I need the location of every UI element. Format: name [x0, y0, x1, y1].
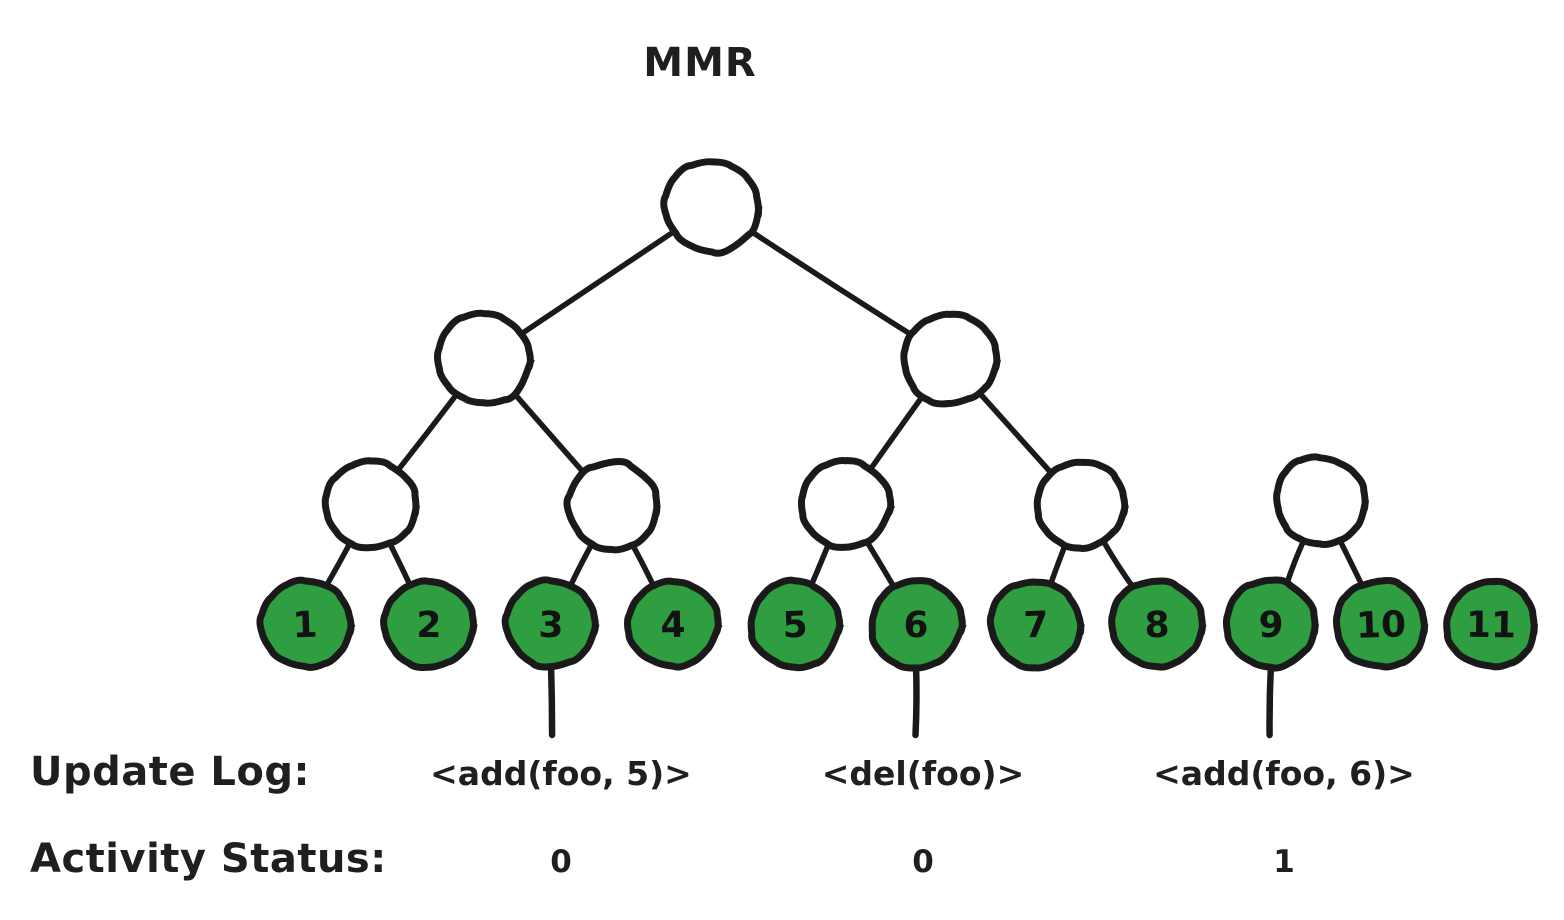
internal-node[interactable]	[1037, 462, 1125, 548]
tree-edge	[1286, 538, 1305, 586]
tree-edge	[811, 543, 829, 586]
internal-node[interactable]	[325, 461, 416, 548]
log-stem	[1270, 664, 1271, 735]
leaf-node[interactable]: 6	[872, 581, 963, 668]
leaf-label: 11	[1466, 605, 1517, 647]
diagram-canvas: 1234567891011 MMRUpdate Log:Activity Sta…	[0, 0, 1564, 920]
log-stem	[551, 664, 552, 735]
leaf-node[interactable]: 9	[1226, 580, 1315, 668]
internal-node[interactable]	[801, 460, 891, 547]
update-log-label: Update Log:	[30, 749, 310, 795]
leaf-label: 2	[416, 605, 441, 646]
leaf-nodes: 1234567891011	[260, 580, 1535, 668]
internal-node[interactable]	[437, 313, 531, 403]
mmr-diagram: 1234567891011 MMRUpdate Log:Activity Sta…	[0, 0, 1564, 920]
tree-edge	[520, 231, 676, 336]
leaf-node[interactable]: 11	[1447, 581, 1535, 667]
leaf-node[interactable]: 7	[990, 582, 1081, 668]
internal-nodes	[325, 162, 1365, 550]
leaf-node[interactable]: 8	[1112, 581, 1203, 667]
tree-edge	[512, 391, 585, 474]
log-entry[interactable]: <add(foo, 6)>	[1153, 754, 1415, 793]
log-entry[interactable]: <add(foo, 5)>	[430, 754, 692, 793]
tree-edge	[1338, 537, 1363, 587]
tree-edge	[1050, 544, 1066, 586]
leaf-label: 3	[538, 605, 564, 646]
leaf-label: 4	[660, 605, 686, 647]
tree-edge	[631, 542, 655, 588]
diagram-title: MMR	[643, 40, 756, 86]
leaf-node[interactable]: 3	[505, 580, 596, 667]
leaf-node[interactable]: 2	[384, 581, 475, 668]
activity-status-value: 1	[1273, 844, 1295, 880]
leaf-log-stems	[551, 664, 1271, 735]
leaf-label: 1	[292, 605, 318, 647]
leaf-node[interactable]: 5	[751, 580, 841, 668]
leaf-label: 5	[782, 605, 809, 647]
leaf-label: 8	[1144, 605, 1170, 646]
leaf-label: 9	[1258, 605, 1284, 646]
tree-edge	[749, 230, 913, 336]
activity-status-label: Activity Status:	[30, 836, 387, 882]
internal-node[interactable]	[567, 461, 657, 549]
leaf-label: 10	[1355, 604, 1406, 646]
tree-edge	[325, 541, 351, 588]
internal-node[interactable]	[904, 314, 998, 404]
tree-edge	[869, 394, 924, 472]
tree-edge	[1102, 539, 1134, 589]
leaf-label: 7	[1023, 605, 1050, 647]
leaf-node[interactable]: 4	[627, 581, 719, 667]
internal-node[interactable]	[1277, 457, 1366, 545]
tree-edge	[978, 391, 1053, 475]
leaf-label: 6	[903, 605, 929, 647]
leaf-node[interactable]: 10	[1336, 580, 1424, 666]
tree-edge	[396, 393, 458, 473]
log-stem	[916, 664, 917, 735]
activity-status-value: 0	[912, 844, 934, 880]
log-entry[interactable]: <del(foo)>	[822, 754, 1024, 793]
internal-node[interactable]	[664, 162, 759, 254]
leaf-node[interactable]: 1	[260, 580, 352, 667]
tree-edge	[866, 540, 895, 589]
tree-edge	[570, 542, 594, 588]
activity-status-value: 0	[550, 844, 572, 880]
tree-edge	[389, 542, 411, 587]
